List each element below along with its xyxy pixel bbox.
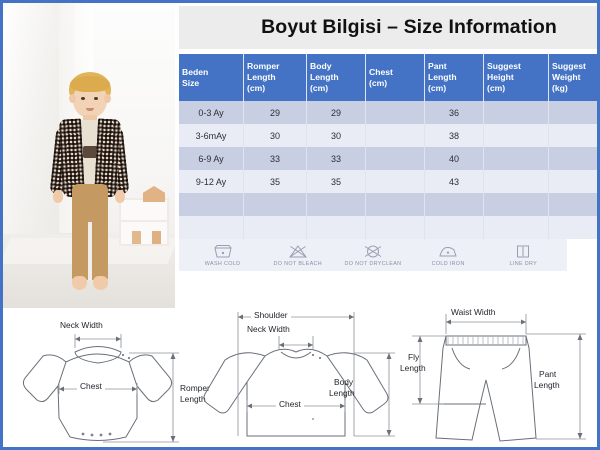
cell-romper-length: 35: [244, 170, 307, 193]
cell-pant-length: [425, 193, 484, 216]
table-header: Beden Size Romper Length (cm) Body Lengt…: [179, 54, 600, 101]
label-chest: Chest: [276, 400, 304, 409]
cell-size: 6-9 Ay: [179, 147, 244, 170]
title-bar: Boyut Bilgisi – Size Information: [179, 6, 600, 49]
cell-pant-length: 43: [425, 170, 484, 193]
table-row: 6-9 Ay 33 33 40: [179, 147, 600, 170]
table-row: 9-12 Ay 35 35 43: [179, 170, 600, 193]
header-line: (cm): [487, 83, 505, 93]
cell-body-length: 35: [307, 170, 366, 193]
care-item-wash-cold: WASH COLD: [186, 244, 260, 267]
care-label: WASH COLD: [205, 261, 241, 267]
header-line: Suggest: [552, 61, 586, 71]
cell-body-length: 29: [307, 101, 366, 124]
header-line: Romper: [247, 61, 279, 71]
care-item-cold-iron: COLD IRON: [411, 244, 485, 267]
cell-size: 0-3 Ay: [179, 101, 244, 124]
eye-left: [81, 97, 85, 100]
label-chest: Chest: [77, 382, 105, 391]
leg-gap: [88, 222, 92, 280]
cell-suggest-height: [484, 170, 549, 193]
foot-left: [72, 276, 87, 290]
size-chart-page: Boyut Bilgisi – Size Information Beden S…: [0, 0, 600, 450]
ear-left: [69, 94, 76, 103]
care-label: DO NOT BLEACH: [274, 261, 322, 267]
romper-measurement-diagram: Neck Width Chest Romper Length: [3, 308, 203, 447]
iron-one-dot-icon: [438, 244, 458, 259]
cell-chest: [366, 216, 425, 239]
header-line: Chest: [369, 67, 393, 77]
cell-chest: [366, 101, 425, 124]
cell-suggest-height: [484, 101, 549, 124]
header-line: (cm): [369, 78, 387, 88]
header-line: Suggest: [487, 61, 521, 71]
care-label: DO NOT DRYCLEAN: [345, 261, 402, 267]
cell-pant-length: 36: [425, 101, 484, 124]
label-body-length-l2: Length: [329, 389, 355, 398]
cell-pant-length: 38: [425, 124, 484, 147]
header-line: Length: [247, 72, 276, 82]
table-body: 0-3 Ay 29 29 36 3-6mAy 30 30 38: [179, 101, 600, 239]
header-line: Size: [182, 78, 199, 88]
header-line: Height: [487, 72, 514, 82]
header-line: Weight: [552, 72, 580, 82]
label-fly-length-l1: Fly: [408, 353, 419, 362]
cell-size: 9-12 Ay: [179, 170, 244, 193]
fringe: [70, 76, 110, 92]
cell-suggest-weight: [549, 216, 600, 239]
header-line: (kg): [552, 83, 568, 93]
column-header-romper-length: Romper Length (cm): [244, 54, 307, 101]
table-row: 3-6mAy 30 30 38: [179, 124, 600, 147]
foot-right: [93, 276, 108, 290]
table-row: [179, 216, 600, 239]
size-table: Beden Size Romper Length (cm) Body Lengt…: [179, 54, 600, 239]
header-line: Beden: [182, 67, 208, 77]
pants-outline: [400, 308, 597, 447]
top-measurement-diagram: Shoulder Neck Width Chest Body Length: [203, 308, 400, 447]
top-outline: [203, 308, 400, 447]
label-neck-width: Neck Width: [60, 321, 103, 330]
romper-outline: [3, 308, 203, 447]
label-pant-length-l1: Pant: [539, 370, 556, 379]
cell-suggest-weight: [549, 170, 600, 193]
header-line: Length: [310, 72, 339, 82]
cell-size: [179, 216, 244, 239]
cell-chest: [366, 147, 425, 170]
table-row: 0-3 Ay 29 29 36: [179, 101, 600, 124]
cell-body-length: 30: [307, 124, 366, 147]
header-line: Body: [310, 61, 331, 71]
pants-measurement-diagram: Waist Width Fly Length Pant Length: [400, 308, 597, 447]
cell-suggest-weight: [549, 124, 600, 147]
label-body-length-l1: Body: [334, 378, 353, 387]
care-item-line-dry: LINE DRY: [486, 244, 560, 267]
label-shoulder: Shoulder: [251, 311, 291, 320]
cell-pant-length: [425, 216, 484, 239]
hand-left: [53, 190, 63, 203]
no-bleach-triangle-icon: [288, 244, 308, 259]
cell-suggest-weight: [549, 147, 600, 170]
cell-suggest-height: [484, 124, 549, 147]
toy-block: [152, 231, 161, 244]
header-line: (cm): [310, 83, 328, 93]
table-row: [179, 193, 600, 216]
care-item-do-not-dryclean: DO NOT DRYCLEAN: [336, 244, 410, 267]
label-pant-length-l2: Length: [534, 381, 560, 390]
care-item-do-not-bleach: DO NOT BLEACH: [261, 244, 335, 267]
hand-right: [115, 190, 125, 203]
cell-romper-length: [244, 193, 307, 216]
product-photo: [3, 3, 175, 308]
cell-body-length: [307, 193, 366, 216]
cell-chest: [366, 124, 425, 147]
cell-size: [179, 193, 244, 216]
column-header-body-length: Body Length (cm): [307, 54, 366, 101]
top-section: Boyut Bilgisi – Size Information Beden S…: [3, 3, 597, 308]
no-dryclean-circle-icon: [363, 244, 383, 259]
label-fly-length-l2: Length: [400, 364, 426, 373]
cell-suggest-height: [484, 193, 549, 216]
page-title: Boyut Bilgisi – Size Information: [261, 16, 557, 39]
cell-body-length: [307, 216, 366, 239]
label-neck-width: Neck Width: [247, 325, 290, 334]
header-line: Length: [428, 72, 457, 82]
cell-romper-length: 29: [244, 101, 307, 124]
wash-tub-icon: [213, 244, 233, 259]
eye-right: [94, 97, 98, 100]
cell-suggest-height: [484, 216, 549, 239]
label-waist-width: Waist Width: [449, 308, 497, 317]
care-label: COLD IRON: [432, 261, 465, 267]
column-header-chest: Chest (cm): [366, 54, 425, 101]
header-line: (cm): [428, 83, 446, 93]
cell-suggest-height: [484, 147, 549, 170]
header-row: Beden Size Romper Length (cm) Body Lengt…: [179, 54, 600, 101]
line-dry-square-icon: [513, 244, 533, 259]
cell-suggest-weight: [549, 101, 600, 124]
column-header-suggest-height: Suggest Height (cm): [484, 54, 549, 101]
cell-romper-length: 33: [244, 147, 307, 170]
cell-suggest-weight: [549, 193, 600, 216]
column-header-beden-size: Beden Size: [179, 54, 244, 101]
cell-size: 3-6mAy: [179, 124, 244, 147]
column-header-pant-length: Pant Length (cm): [425, 54, 484, 101]
care-label: LINE DRY: [510, 261, 538, 267]
care-instructions: WASH COLD DO NOT BLEACH: [179, 239, 567, 271]
child-model: [39, 72, 139, 300]
info-panel: Boyut Bilgisi – Size Information Beden S…: [175, 3, 600, 308]
cell-romper-length: 30: [244, 124, 307, 147]
header-line: (cm): [247, 83, 265, 93]
header-line: Pant: [428, 61, 447, 71]
cell-pant-length: 40: [425, 147, 484, 170]
measurement-diagrams: Neck Width Chest Romper Length: [3, 308, 597, 447]
cell-romper-length: [244, 216, 307, 239]
cell-chest: [366, 170, 425, 193]
label-romper-length-l2: Length: [180, 395, 206, 404]
ear-right: [104, 94, 111, 103]
column-header-suggest-weight: Suggest Weight (kg): [549, 54, 600, 101]
cell-chest: [366, 193, 425, 216]
cell-body-length: 33: [307, 147, 366, 170]
